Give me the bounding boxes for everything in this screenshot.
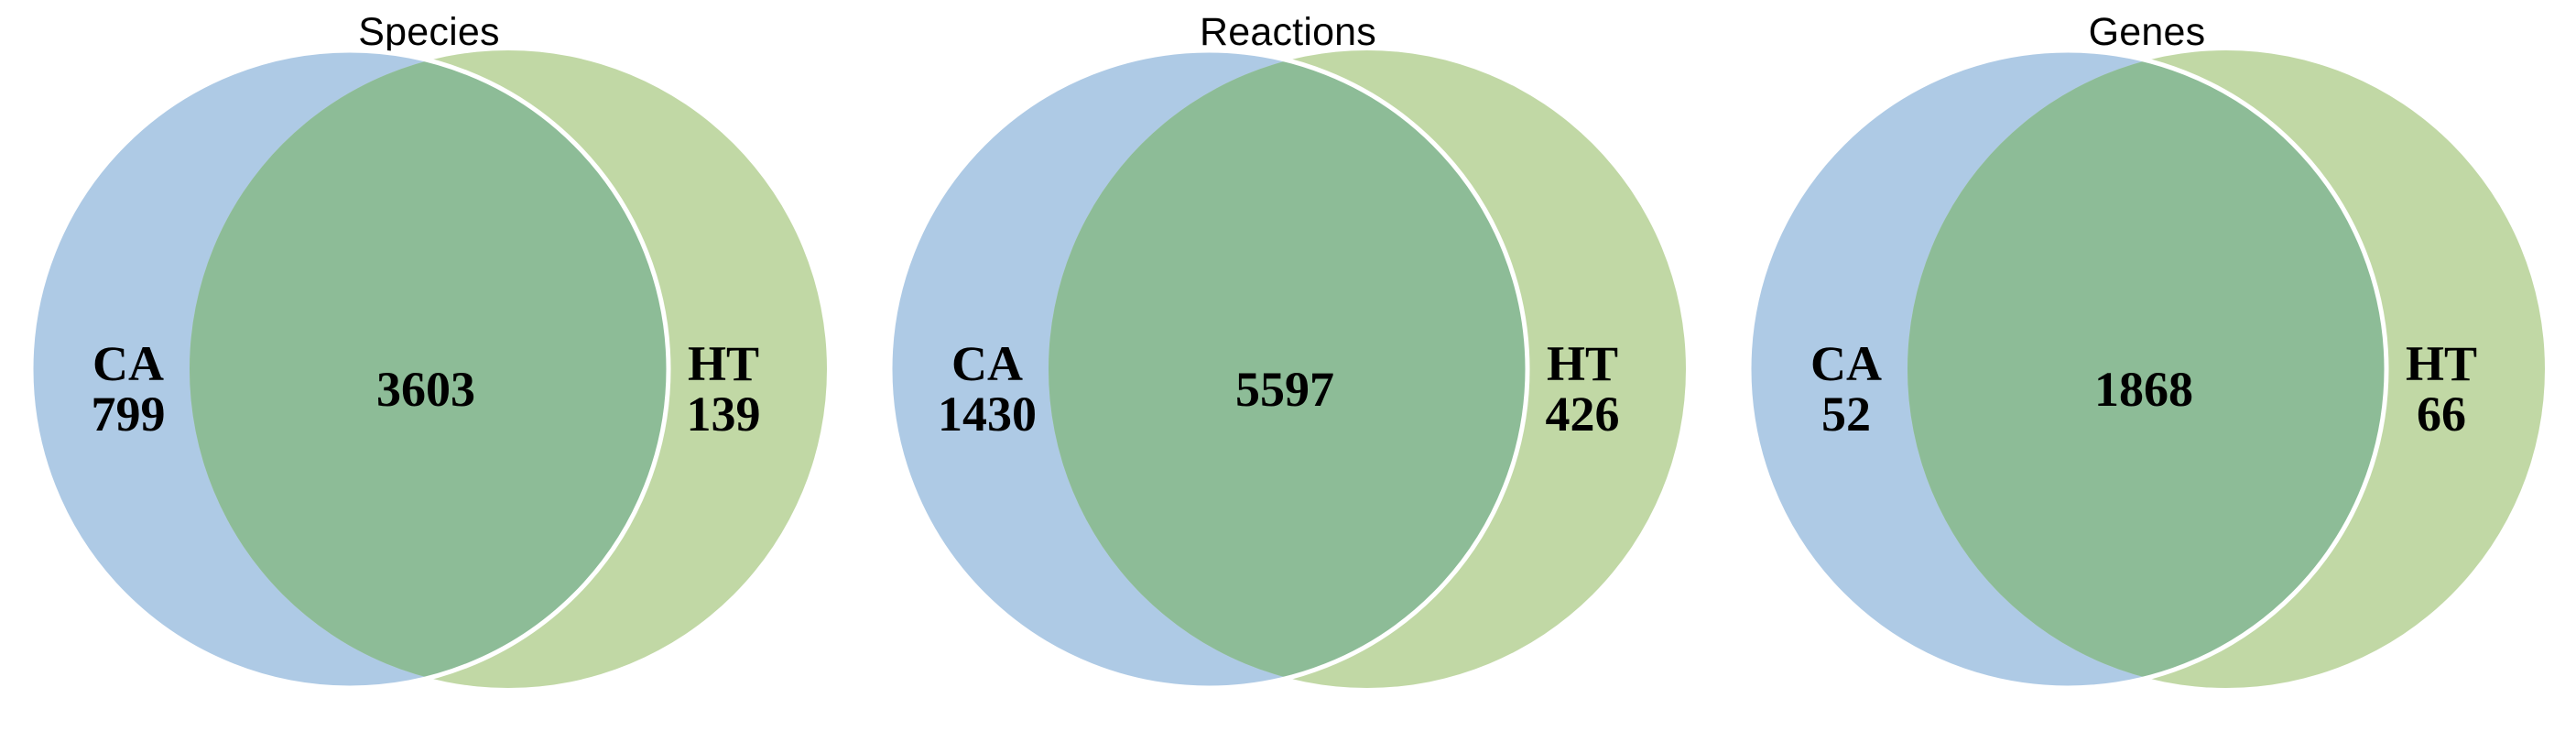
venn-panel-species: Species CA 799 3603 HT 139: [0, 0, 858, 731]
venn-label-center-reactions: 5597: [1088, 365, 1482, 415]
venn-left-set-name: CA: [1755, 339, 1938, 389]
venn-label-center-genes: 1868: [1947, 365, 2341, 415]
venn-right-set-name: HT: [1491, 339, 1674, 389]
venn-left-set-name: CA: [37, 339, 220, 389]
venn-intersection-count: 3603: [229, 365, 623, 415]
venn-right-set-name: HT: [632, 339, 815, 389]
venn-intersection-count: 5597: [1088, 365, 1482, 415]
venn-right-set-name: HT: [2350, 339, 2533, 389]
venn-intersection-count: 1868: [1947, 365, 2341, 415]
venn-right-set-count: 426: [1491, 389, 1674, 440]
venn-label-left-genes: CA 52: [1755, 339, 1938, 440]
venn-label-right-genes: HT 66: [2350, 339, 2533, 440]
venn-left-set-count: 1430: [896, 389, 1079, 440]
venn-left-set-count: 52: [1755, 389, 1938, 440]
venn-label-right-reactions: HT 426: [1491, 339, 1674, 440]
venn-left-set-name: CA: [896, 339, 1079, 389]
venn-label-right-species: HT 139: [632, 339, 815, 440]
venn-label-left-species: CA 799: [37, 339, 220, 440]
venn-left-set-count: 799: [37, 389, 220, 440]
venn-panel-reactions: Reactions CA 1430 5597 HT 426: [859, 0, 1717, 731]
venn-right-set-count: 139: [632, 389, 815, 440]
venn-label-left-reactions: CA 1430: [896, 339, 1079, 440]
venn-label-center-species: 3603: [229, 365, 623, 415]
venn-panel-genes: Genes CA 52 1868 HT 66: [1718, 0, 2576, 731]
venn-right-set-count: 66: [2350, 389, 2533, 440]
venn-figure: Species CA 799 3603 HT 139 Reactions: [0, 0, 2576, 731]
